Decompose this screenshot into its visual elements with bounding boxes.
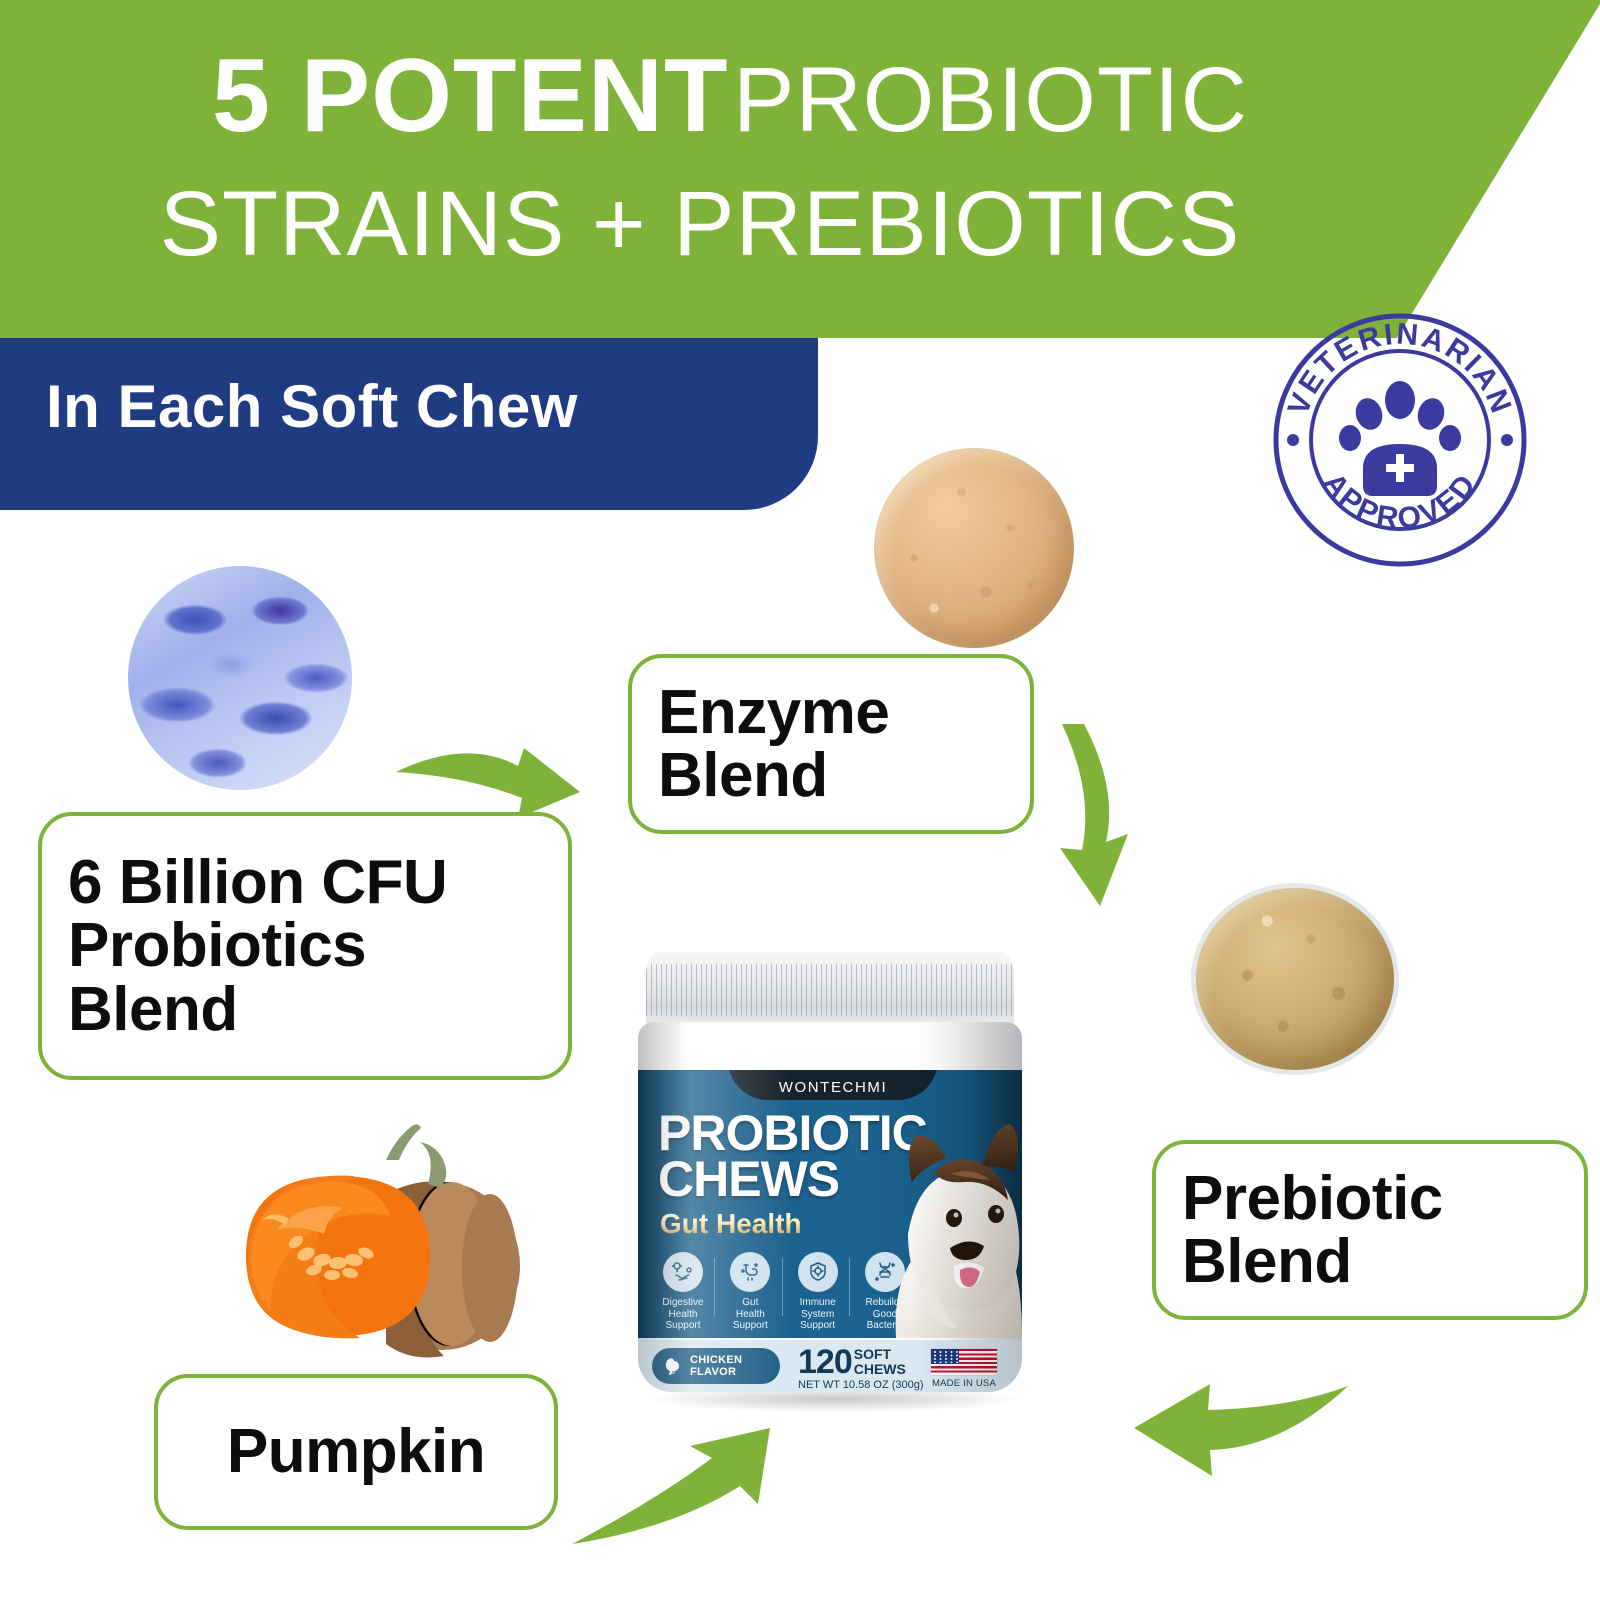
infographic-canvas: 5 POTENT PROBIOTIC STRAINS + PREBIOTICS … (0, 0, 1600, 1600)
subhead-text: In Each Soft Chew (46, 372, 578, 441)
brand-name: WONTECHMI (779, 1079, 888, 1096)
callout-enzyme-blend[interactable]: Enzyme Blend (628, 654, 1034, 834)
callout-prebiotic-blend[interactable]: Prebiotic Blend (1152, 1140, 1588, 1320)
arrow-pumpkin-to-jar (568, 1424, 790, 1556)
bacteria-microscope-image (128, 566, 352, 790)
digestive-tract-icon (663, 1252, 703, 1292)
jar-label: WONTECHMI PROBIOTIC CHEWS Gut Health (638, 1070, 1022, 1338)
headline-line-1: 5 POTENT PROBIOTIC (0, 44, 1460, 148)
benefit-label: Immune System Support (787, 1297, 849, 1332)
callout-probiotics-blend[interactable]: 6 Billion CFU Probiotics Blend (38, 812, 572, 1080)
shield-cell-icon (798, 1252, 838, 1292)
headline-line-2: STRAINS + PREBIOTICS (0, 178, 1400, 270)
usa-flag-icon (930, 1348, 998, 1376)
benefit-item: Digestive Health Support (652, 1252, 714, 1332)
prebiotic-powder-image (1196, 888, 1394, 1070)
benefit-label: Digestive Health Support (652, 1297, 714, 1332)
chew-count: 120 (798, 1346, 852, 1378)
veterinarian-approved-seal: VETERINARIAN APPROVED (1268, 308, 1532, 572)
brand-badge: WONTECHMI (728, 1070, 938, 1100)
border-collie-dog-photo (890, 1114, 1022, 1338)
pumpkin-image (190, 1108, 530, 1368)
headline-light: PROBIOTIC (733, 49, 1248, 151)
chew-count-words: SOFT CHEWS (854, 1347, 906, 1376)
enzyme-powder-image (874, 448, 1074, 648)
paw-with-cross-icon (1339, 381, 1461, 496)
benefit-label: Gut Health Support (719, 1297, 781, 1332)
jar-cap (646, 952, 1014, 1032)
callout-probiotics-text: 6 Billion CFU Probiotics Blend (68, 851, 447, 1041)
callout-pumpkin-text: Pumpkin (227, 1420, 485, 1483)
callout-pumpkin[interactable]: Pumpkin (154, 1374, 558, 1530)
made-in-usa-block: MADE IN USA (926, 1348, 1002, 1389)
label-footer: CHICKEN FLAVOR 120 SOFT CHEWS NET WT 10.… (638, 1340, 1022, 1392)
chew-count-block: 120 SOFT CHEWS NET WT 10.58 OZ (300g) (798, 1346, 924, 1391)
callout-prebiotic-text: Prebiotic Blend (1182, 1167, 1443, 1293)
product-subtitle: Gut Health (660, 1210, 802, 1238)
benefits-row: Digestive Health Support (652, 1252, 916, 1332)
arrow-enzyme-to-prebiotic (1060, 720, 1178, 910)
net-weight: NET WT 10.58 OZ (300g) (798, 1379, 924, 1391)
headline-bold: 5 POTENT (212, 38, 729, 154)
benefit-item: Gut Health Support (719, 1252, 781, 1332)
product-jar[interactable]: WONTECHMI PROBIOTIC CHEWS Gut Health (620, 952, 1040, 1402)
made-in-usa-text: MADE IN USA (926, 1378, 1002, 1389)
arrow-prebiotic-to-jar (1128, 1358, 1352, 1486)
jar-body: WONTECHMI PROBIOTIC CHEWS Gut Health (638, 1022, 1022, 1392)
benefit-item: Immune System Support (787, 1252, 849, 1332)
flavor-label: CHICKEN FLAVOR (690, 1354, 742, 1379)
chicken-icon (661, 1354, 685, 1378)
callout-enzyme-text: Enzyme Blend (658, 681, 889, 807)
stomach-icon (730, 1252, 770, 1292)
flavor-badge: CHICKEN FLAVOR (652, 1348, 780, 1384)
